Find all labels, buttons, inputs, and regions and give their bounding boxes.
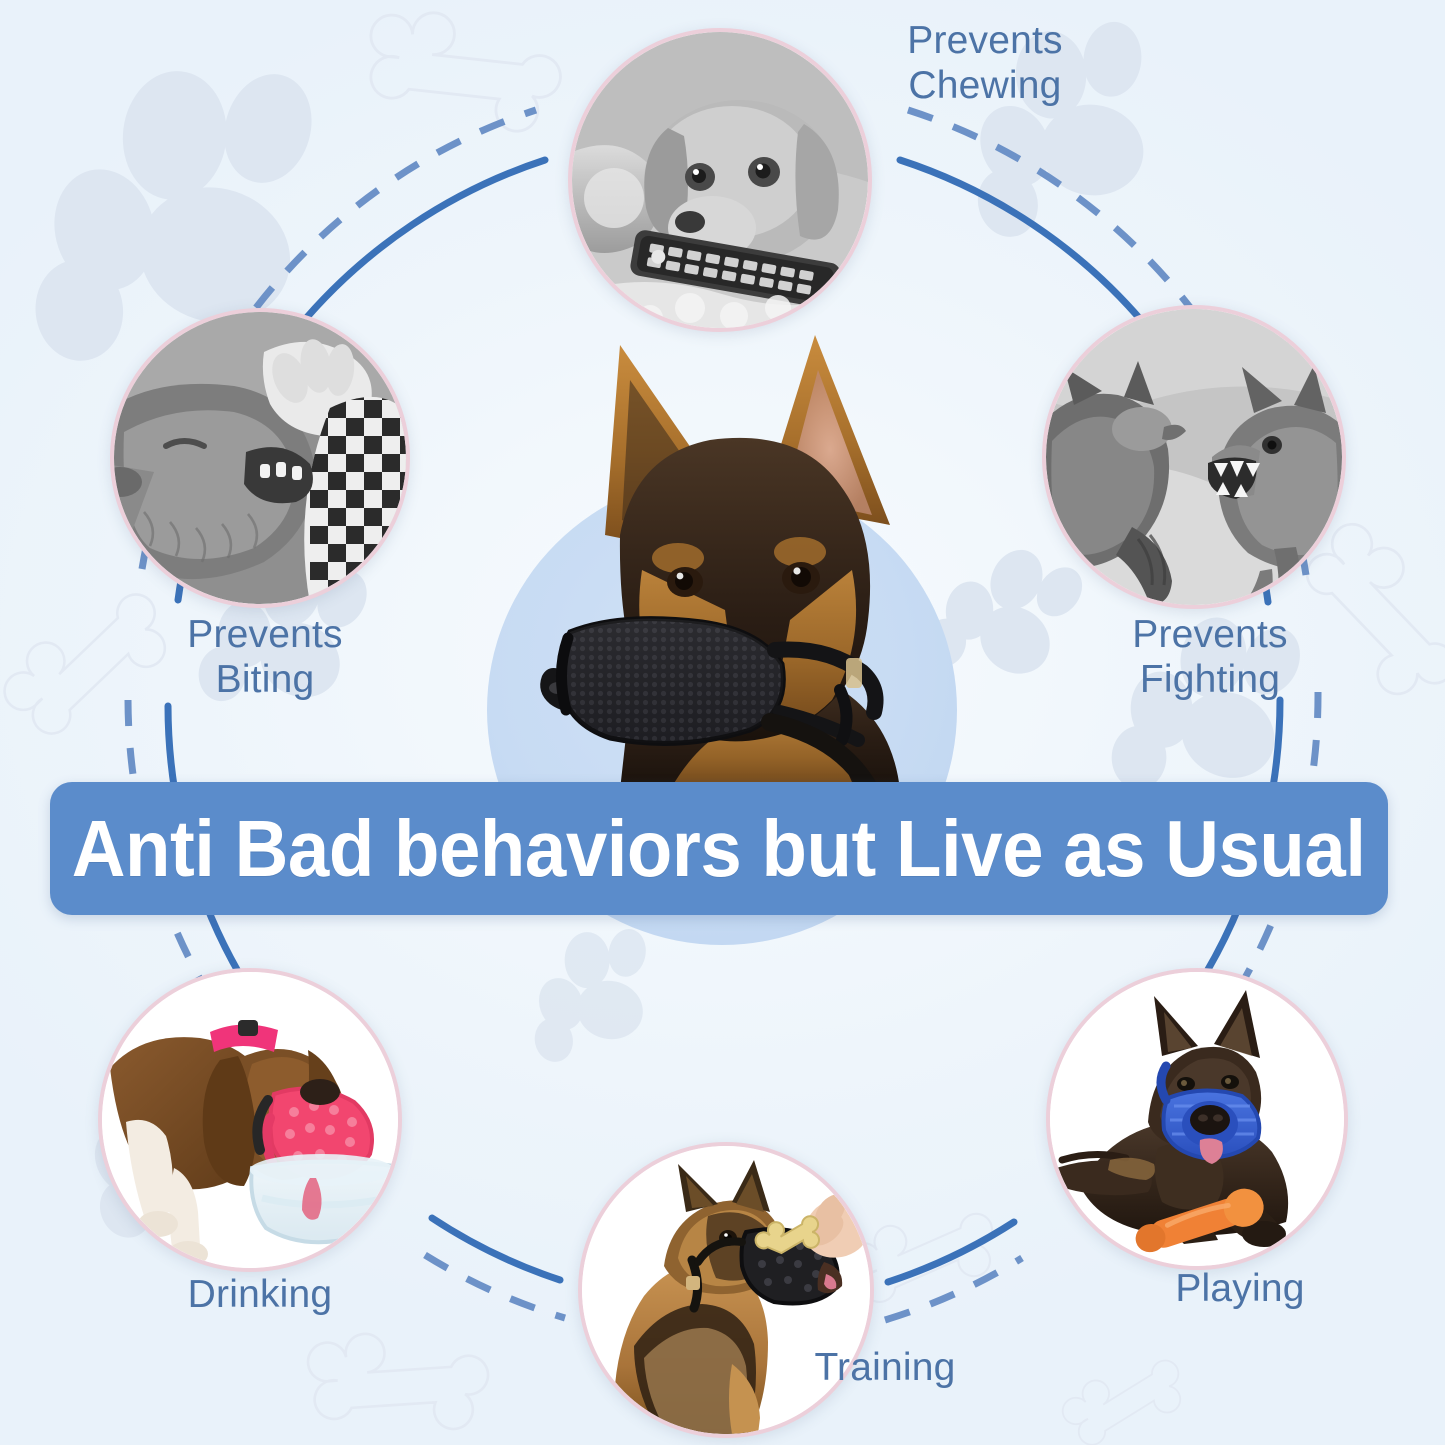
hero-dog-image xyxy=(470,320,980,790)
headline-text: Anti Bad behaviors but Live as Usual xyxy=(72,803,1366,895)
photo-playing[interactable] xyxy=(1046,968,1348,1270)
label-prevents-fighting: Prevents Fighting xyxy=(1060,612,1360,702)
photo-drinking[interactable] xyxy=(98,968,402,1272)
photo-training[interactable] xyxy=(578,1142,874,1438)
label-prevents-chewing: Prevents Chewing xyxy=(790,18,1180,108)
infographic-canvas: Prevents Chewing xyxy=(0,0,1445,1445)
label-drinking: Drinking xyxy=(115,1272,405,1317)
headline-banner: Anti Bad behaviors but Live as Usual xyxy=(50,782,1388,915)
photo-prevents-fighting[interactable] xyxy=(1042,305,1346,609)
photo-prevents-biting[interactable] xyxy=(110,308,410,608)
label-prevents-biting: Prevents Biting xyxy=(120,612,410,702)
label-training: Training xyxy=(740,1345,1030,1390)
label-playing: Playing xyxy=(1095,1266,1385,1311)
